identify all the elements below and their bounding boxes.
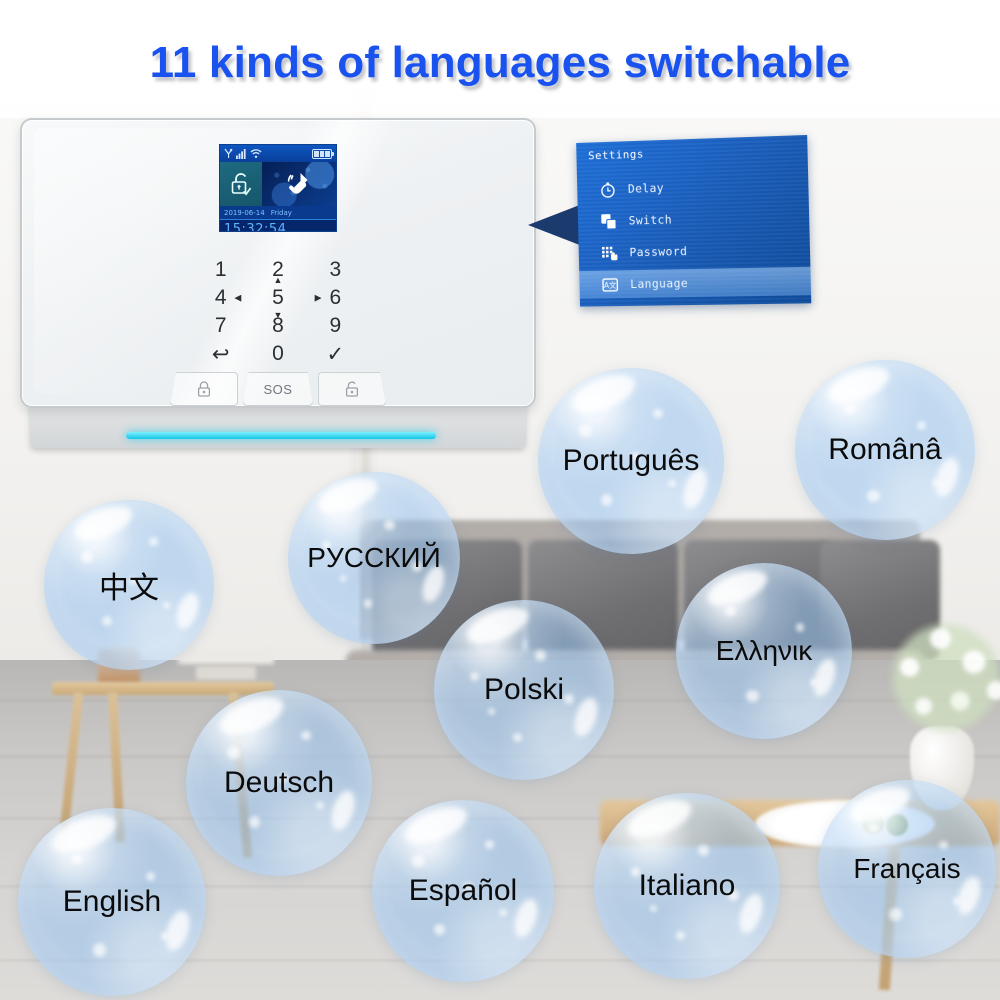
arm-away-button[interactable] (170, 372, 238, 406)
antenna-icon (224, 148, 233, 159)
language-label: Polski (484, 673, 564, 707)
hand-touch-icon (284, 169, 314, 199)
bubble-speck (698, 845, 709, 856)
bubble-speck (316, 802, 323, 809)
bubble-speck (81, 551, 93, 563)
bubble-highlight (173, 590, 202, 631)
bubble-speck (163, 602, 170, 609)
bubble-speck (917, 421, 926, 430)
bubble-speck (676, 931, 685, 940)
language-label: Español (409, 874, 517, 908)
settings-item-label: Switch (629, 213, 673, 228)
bubble-speck (340, 575, 347, 582)
bubble-speck (499, 909, 506, 916)
bubble-highlight (161, 907, 193, 953)
bubble-speck (71, 853, 82, 864)
bubble-speck (725, 605, 736, 616)
keypad-hand-icon (600, 244, 618, 262)
settings-item-language[interactable]: A文 Language (579, 267, 811, 299)
bubble-speck (889, 908, 901, 920)
settings-item-label: Password (629, 244, 687, 259)
language-bubble[interactable]: Ελληνικ (676, 563, 852, 739)
language-label: Português (563, 444, 700, 478)
arrow-right-icon: ▶ (315, 293, 322, 304)
lcd-tiles (220, 162, 336, 206)
key-confirm[interactable]: ✓ (307, 340, 364, 368)
lcd-touch-tile (262, 162, 336, 206)
bubble-speck (867, 490, 880, 503)
settings-item-label: Delay (628, 181, 664, 196)
key-5[interactable]: 5 (249, 284, 306, 312)
language-label: Românâ (828, 433, 941, 467)
bubble-speck (535, 650, 546, 661)
language-bubble[interactable]: Polski (434, 600, 614, 780)
stopwatch-icon (598, 180, 616, 198)
page-title: 11 kinds of languages switchable (0, 38, 1000, 88)
bubble-speck (161, 932, 169, 940)
language-label: Français (853, 853, 960, 885)
bubble-speck (412, 855, 425, 868)
key-0[interactable]: 0 (249, 340, 306, 368)
language-bubble[interactable]: Deutsch (186, 690, 372, 876)
bubble-speck (653, 409, 662, 418)
bubble-speck (102, 616, 112, 626)
key-6[interactable]: 6▶ (307, 284, 364, 312)
language-label: 中文 (99, 563, 159, 607)
settings-item-password[interactable]: Password (578, 234, 810, 267)
key-9[interactable]: 9 (307, 312, 364, 340)
key-8[interactable]: 8▼ (249, 312, 306, 340)
bubble-speck (564, 694, 575, 705)
bubble-speck (485, 840, 494, 849)
signal-bars-icon (236, 148, 247, 159)
arrow-down-icon: ▼ (274, 310, 283, 320)
language-label: ΡУССКИЙ (307, 542, 440, 574)
device-function-buttons: SOS (162, 370, 394, 408)
key-1[interactable]: 1 (192, 256, 249, 284)
language-label: Ελληνικ (716, 635, 812, 667)
device-keypad[interactable]: 1 2▲ 3 4◀ 5 6▶ 7 8▼ 9 ↩ 0 ✓ (192, 256, 364, 368)
bubble-speck (746, 690, 758, 702)
bubble-speck (364, 599, 373, 608)
unlocked-padlock-icon (230, 172, 252, 196)
bubble-speck (810, 679, 817, 686)
bubble-speck (249, 816, 260, 827)
bubble-speck (93, 943, 106, 956)
bubble-speck (668, 480, 675, 487)
bubble-highlight (571, 695, 602, 739)
bubble-speck (146, 872, 155, 881)
language-bubble[interactable]: Português (538, 368, 724, 554)
bubble-speck (868, 823, 879, 834)
lcd-date-row: 2019-06-14 Friday (220, 206, 336, 220)
language-label: Italiano (639, 869, 736, 903)
lcd-date: 2019-06-14 (224, 209, 265, 217)
bubble-speck (149, 537, 158, 546)
device-lcd-screen: 2019-06-14 Friday 15:32:54 (219, 144, 337, 232)
flower-bouquet (876, 610, 1000, 740)
bubble-speck (601, 494, 612, 505)
bubble-speck (845, 403, 856, 414)
bubble-highlight (735, 891, 767, 936)
open-padlock-icon (345, 381, 359, 397)
language-bubble[interactable]: Español (372, 800, 554, 982)
bubble-speck (650, 905, 657, 912)
arrow-left-icon: ◀ (234, 293, 241, 304)
language-bubble[interactable]: Italiano (594, 793, 780, 979)
lcd-weekday: Friday (271, 209, 292, 217)
wifi-icon (250, 148, 262, 159)
key-2[interactable]: 2▲ (249, 256, 306, 284)
bubble-speck (932, 479, 939, 486)
bubble-speck (470, 672, 479, 681)
status-led-bar (126, 432, 436, 439)
disarm-button[interactable] (318, 372, 386, 406)
bubble-speck (384, 520, 394, 530)
settings-menu-screen: Settings Delay Switch (576, 135, 811, 307)
settings-item-label: Language (630, 276, 688, 291)
lcd-status-bar (220, 145, 336, 162)
key-back[interactable]: ↩ (192, 340, 249, 368)
shelf-object (196, 666, 256, 680)
squares-icon (599, 212, 617, 230)
key-3[interactable]: 3 (307, 256, 364, 284)
side-table-top (52, 682, 274, 695)
bubble-speck (513, 733, 522, 742)
settings-item-switch[interactable]: Switch (578, 202, 810, 236)
bubble-speck (227, 746, 240, 759)
language-bubble[interactable]: Français (818, 780, 996, 958)
key-4[interactable]: 4◀ (192, 284, 249, 312)
language-ab-icon: A文 (601, 275, 619, 293)
settings-title: Settings (588, 148, 644, 163)
language-bubble[interactable]: Românâ (795, 360, 975, 540)
bubble-speck (796, 623, 805, 632)
language-label: English (63, 885, 161, 919)
bubble-speck (953, 897, 960, 904)
language-label: Deutsch (224, 766, 334, 800)
lcd-time: 15:32:54 (220, 220, 336, 232)
battery-icon (312, 149, 332, 159)
language-bubble[interactable]: 中文 (44, 500, 214, 670)
bubble-speck (301, 731, 310, 740)
lcd-disarm-tile (220, 162, 262, 206)
shelf-object (178, 650, 274, 664)
bubble-speck (939, 841, 948, 850)
svg-text:A文: A文 (603, 279, 616, 289)
bubble-highlight (810, 656, 840, 699)
bubble-speck (579, 424, 592, 437)
sos-button[interactable]: SOS (243, 372, 313, 406)
key-7[interactable]: 7 (192, 312, 249, 340)
closed-padlock-icon (197, 381, 211, 397)
language-bubble[interactable]: English (18, 808, 206, 996)
bubble-speck (488, 708, 495, 715)
alarm-panel-device: 2019-06-14 Friday 15:32:54 1 2▲ 3 4◀ 5 6… (14, 118, 542, 448)
language-bubble[interactable]: ΡУССКИЙ (288, 472, 460, 644)
bubble-speck (434, 924, 445, 935)
